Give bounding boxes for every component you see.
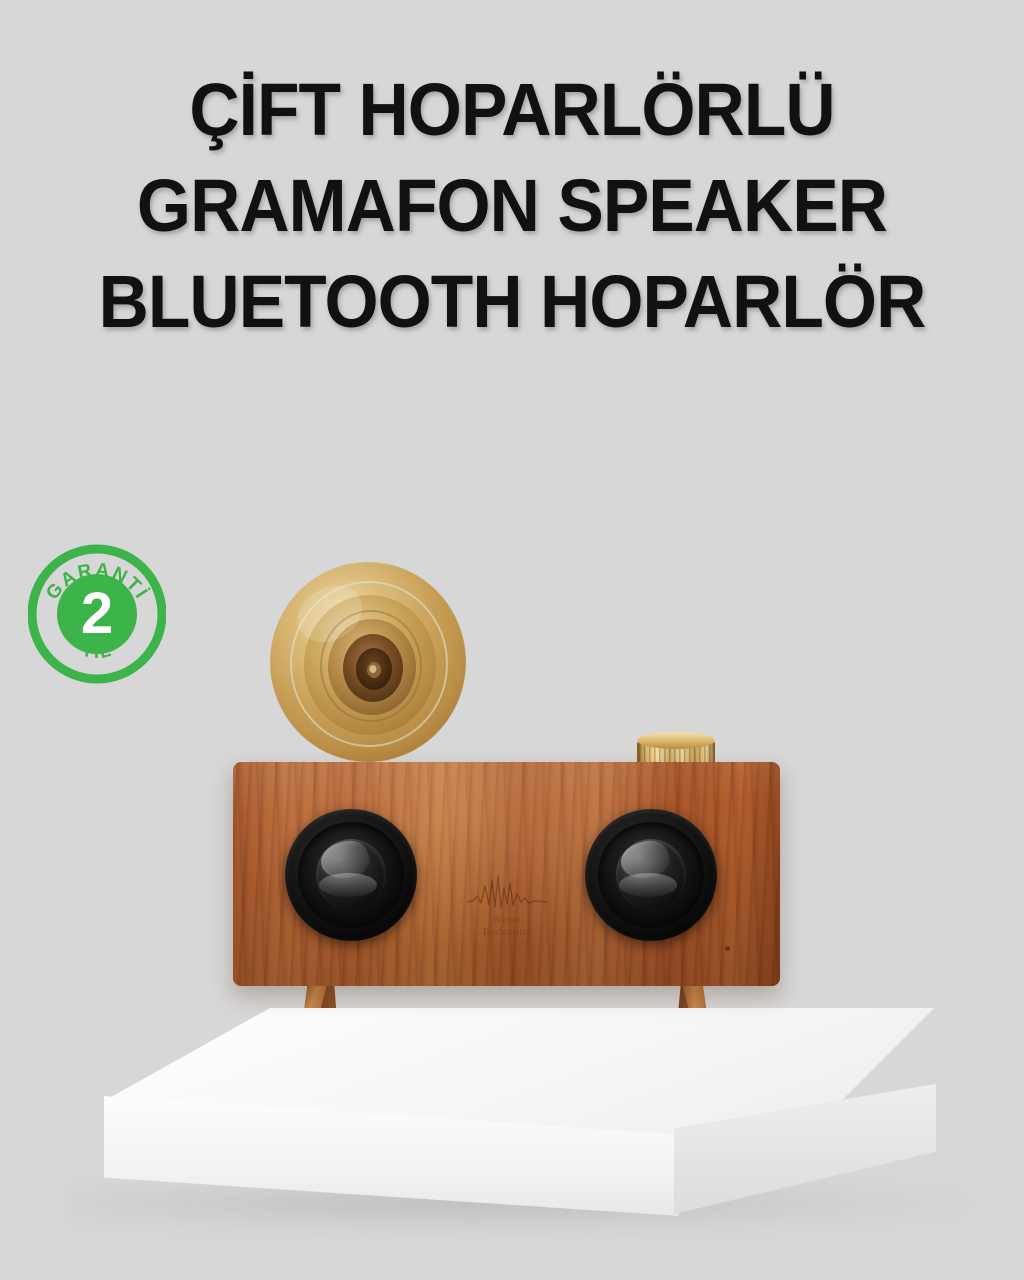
- speaker-cabinet: Noise Reduction: [233, 762, 780, 986]
- gramophone-horn-icon: [268, 562, 468, 767]
- warranty-bottom-text: YIL: [79, 639, 114, 662]
- bass-port-hole: [725, 946, 730, 951]
- driver-highlight-lower: [319, 873, 377, 897]
- page-title: ÇİFT HOPARLÖRLÜ GRAMAFON SPEAKER BLUETOO…: [0, 62, 1024, 350]
- cabinet-engraving-text: Noise Reduction: [459, 914, 555, 938]
- warranty-badge: GARANTİ 2 YIL: [28, 543, 166, 685]
- engraving-line-2: Reduction: [459, 926, 555, 938]
- driver-highlight-lower: [619, 873, 677, 897]
- engraving-line-1: Noise: [459, 914, 555, 926]
- headline-line-3: BLUETOOTH HOPARLÖR: [31, 254, 994, 350]
- headline-line-1: ÇİFT HOPARLÖRLÜ: [31, 62, 994, 158]
- headline-line-2: GRAMAFON SPEAKER: [31, 158, 994, 254]
- display-pedestal: [104, 1008, 934, 1218]
- speaker-driver-left: [285, 809, 417, 941]
- knob-top-face: [637, 732, 715, 749]
- warranty-number: 2: [81, 581, 113, 646]
- speaker-driver-right: [585, 809, 717, 941]
- waveform-icon: [465, 874, 549, 914]
